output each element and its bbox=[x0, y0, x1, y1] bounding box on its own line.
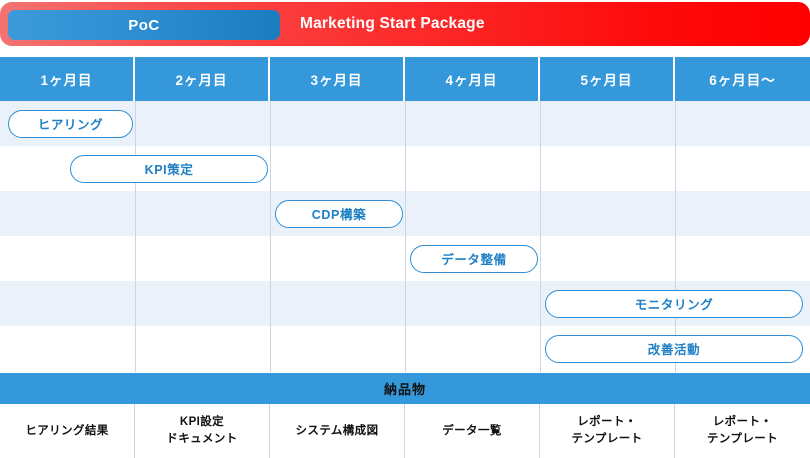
phase-badge-poc: PoC bbox=[8, 10, 280, 40]
phase-banner-package-label: Marketing Start Package bbox=[300, 2, 485, 46]
month-header-cell-2: 2ヶ月目 bbox=[135, 57, 270, 101]
task-pill-5[interactable]: モニタリング bbox=[545, 290, 803, 318]
deliverables-row: ヒアリング結果KPI設定ドキュメントシステム構成図データ一覧レポート・テンプレー… bbox=[0, 404, 810, 458]
deliverable-cell-3: システム構成図 bbox=[270, 404, 405, 458]
deliverable-label-line1: レポート・ bbox=[577, 414, 637, 431]
timeline-grid: ヒアリングKPI策定CDP構築データ整備モニタリング改善活動 bbox=[0, 101, 810, 372]
deliverable-label-line1: データ一覧 bbox=[442, 423, 502, 440]
roadmap-diagram: Marketing Start Package PoC 1ヶ月目2ヶ月目3ヶ月目… bbox=[0, 0, 810, 458]
deliverable-cell-2: KPI設定ドキュメント bbox=[135, 404, 270, 458]
deliverable-label-line1: ヒアリング結果 bbox=[25, 423, 108, 440]
task-pill-4[interactable]: データ整備 bbox=[410, 245, 538, 273]
deliverable-label-line1: システム構成図 bbox=[296, 423, 379, 440]
month-header-cell-4: 4ヶ月目 bbox=[405, 57, 540, 101]
month-header-row: 1ヶ月目2ヶ月目3ヶ月目4ヶ月目5ヶ月目6ヶ月目〜 bbox=[0, 57, 810, 101]
deliverable-cell-6: レポート・テンプレート bbox=[675, 404, 810, 458]
deliverable-label-line1: レポート・ bbox=[713, 414, 773, 431]
timeline-row-3 bbox=[0, 191, 810, 236]
deliverable-label-line2: ドキュメント bbox=[166, 431, 237, 448]
deliverable-label-line1: KPI設定 bbox=[180, 414, 224, 431]
month-header-cell-3: 3ヶ月目 bbox=[270, 57, 405, 101]
deliverable-cell-5: レポート・テンプレート bbox=[540, 404, 675, 458]
task-pill-3[interactable]: CDP構築 bbox=[275, 200, 403, 228]
phase-banner: Marketing Start Package PoC bbox=[0, 2, 810, 46]
deliverable-label-line2: テンプレート bbox=[571, 431, 642, 448]
deliverable-cell-1: ヒアリング結果 bbox=[0, 404, 135, 458]
task-pill-6[interactable]: 改善活動 bbox=[545, 335, 803, 363]
month-header-cell-6: 6ヶ月目〜 bbox=[675, 57, 810, 101]
deliverable-cell-4: データ一覧 bbox=[405, 404, 540, 458]
deliverable-label-line2: テンプレート bbox=[707, 431, 778, 448]
task-pill-1[interactable]: ヒアリング bbox=[8, 110, 133, 138]
deliverables-header: 納品物 bbox=[0, 373, 810, 404]
month-header-cell-1: 1ヶ月目 bbox=[0, 57, 135, 101]
task-pill-2[interactable]: KPI策定 bbox=[70, 155, 268, 183]
timeline-row-4 bbox=[0, 236, 810, 281]
month-header-cell-5: 5ヶ月目 bbox=[540, 57, 675, 101]
